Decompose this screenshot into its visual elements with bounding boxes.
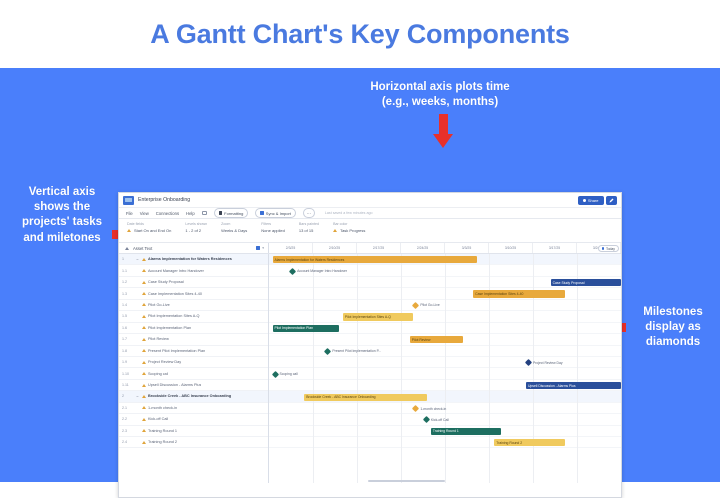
task-row-number: 1.5 xyxy=(122,314,133,318)
task-row-number: 1.4 xyxy=(122,303,133,307)
gantt-milestone-label: Present Pilot Implementation P... xyxy=(332,349,381,353)
settings-icon[interactable] xyxy=(256,246,260,250)
annotation-vertical-axis: Vertical axis shows the projects' tasks … xyxy=(6,185,118,246)
task-row-name: Training Round 2 xyxy=(148,440,177,444)
diamond-icon xyxy=(271,371,278,378)
triangle-icon xyxy=(142,258,146,261)
annotation-milestones-line2: display as xyxy=(630,320,716,335)
task-row[interactable]: 1.10Scoping call xyxy=(119,368,268,379)
gantt-milestone[interactable]: Project Review Day xyxy=(526,359,563,366)
filter-filters[interactable]: Filters None applied xyxy=(261,222,285,233)
filter-filters-label: Filters xyxy=(261,222,285,226)
today-dot-icon xyxy=(602,247,605,250)
triangle-icon xyxy=(142,338,146,341)
task-row-number: 2.4 xyxy=(122,440,133,444)
task-row[interactable]: 1.9Project Review Day xyxy=(119,357,268,368)
gantt-bar-label: Pilot Implementation Sites A-Q xyxy=(345,315,391,319)
annotation-milestones: Milestones display as diamonds xyxy=(630,305,716,351)
gantt-bar-label: Training Round 1 xyxy=(433,429,459,433)
triangle-icon xyxy=(333,229,337,232)
task-row[interactable]: 1.5Pilot Implementation Sites A-Q xyxy=(119,311,268,322)
gantt-milestone[interactable]: Pilot Go-Live xyxy=(413,302,439,309)
task-row-number: 1.11 xyxy=(122,383,133,387)
annotation-horizontal-axis: Horizontal axis plots time (e.g., weeks,… xyxy=(320,80,560,110)
expand-toggle-icon[interactable]: − xyxy=(135,257,140,262)
format-icon xyxy=(219,211,223,215)
menu-item-view[interactable]: View xyxy=(140,211,149,216)
sort-ascending-icon[interactable] xyxy=(125,247,129,250)
sync-import-button-label: Sync & Import xyxy=(266,211,291,216)
task-row-number: 1.7 xyxy=(122,337,133,341)
today-button[interactable]: Today xyxy=(598,245,619,252)
filter-bar-color[interactable]: Bar color Task Progress xyxy=(333,222,365,233)
formatting-button-label: Formatting xyxy=(224,211,243,216)
gantt-bar-label: Case Implementation Sites 4-40 xyxy=(475,292,523,296)
gantt-milestone[interactable]: 1-month check-in xyxy=(413,405,446,412)
annotation-vertical-axis-line4: and miletones xyxy=(6,231,118,246)
task-row[interactable]: 1.11Upsell Discussion - Alarms Plus xyxy=(119,380,268,391)
today-button-label: Today xyxy=(606,247,615,251)
gantt-bar[interactable]: Pilot Implementation Plan xyxy=(273,325,340,332)
gantt-bar-label: Upsell Discussion - Alarms Plus xyxy=(528,384,576,388)
task-row-name: 1-month check-in xyxy=(148,406,177,410)
task-row-name: Brookside Creek - ABC Insurance Onboardi… xyxy=(148,394,231,398)
title-band: A Gantt Chart's Key Components xyxy=(0,0,720,68)
annotation-vertical-axis-line1: Vertical axis xyxy=(6,185,118,200)
gantt-bar[interactable]: Pilot Review xyxy=(410,336,463,343)
triangle-icon xyxy=(142,429,146,432)
task-row[interactable]: 2−Brookside Creek - ABC Insurance Onboar… xyxy=(119,391,268,402)
gantt-bar-label: Training Round 2 xyxy=(496,441,522,445)
annotation-horizontal-axis-line2: (e.g., weeks, months) xyxy=(320,95,560,110)
gantt-bar[interactable]: Case Implementation Sites 4-40 xyxy=(473,290,565,297)
task-row-number: 1.1 xyxy=(122,269,133,273)
annotation-vertical-axis-line2: shows the xyxy=(6,200,118,215)
gantt-bar-label: Pilot Review xyxy=(412,338,431,342)
task-row[interactable]: 1−Alarms Implementation for Waters Resid… xyxy=(119,254,268,265)
task-row-number: 1.6 xyxy=(122,326,133,330)
timeline-tick: 2/17/25 xyxy=(357,243,401,253)
diamond-icon xyxy=(423,416,430,423)
timeline-tick: 3/3/25 xyxy=(445,243,489,253)
filter-bars-painted-value: 13 of 15 xyxy=(299,228,319,233)
filter-bar-color-label: Bar color xyxy=(333,222,365,226)
gantt-bar[interactable]: Training Round 1 xyxy=(431,428,501,435)
filter-bar: Date fields Start On and End On Levels s… xyxy=(119,219,621,243)
triangle-icon xyxy=(142,406,146,409)
annotation-milestones-line3: diamonds xyxy=(630,335,716,350)
task-row-name: Upsell Discussion - Alarms Plus xyxy=(148,383,201,387)
gantt-bar-label: Brookside Creek - ABC Insurance Onboardi… xyxy=(306,395,375,399)
gantt-milestone[interactable]: Account Manager Intro Handover xyxy=(290,268,347,275)
task-row[interactable]: 1.4Pilot Go-Live xyxy=(119,300,268,311)
task-row[interactable]: 1.6Pilot Implementation Plan xyxy=(119,323,268,334)
task-row-name: Account Manager Intro Handover xyxy=(148,269,204,273)
task-row[interactable]: 2.2Kick-off Call xyxy=(119,414,268,425)
task-row-number: 1 xyxy=(122,257,133,261)
triangle-icon xyxy=(142,315,146,318)
task-row[interactable]: 1.1Account Manager Intro Handover xyxy=(119,265,268,276)
gantt-milestone-label: Scoping call xyxy=(280,372,298,376)
task-row[interactable]: 1.2Case Study Proposal xyxy=(119,277,268,288)
saved-status: Last saved a few minutes ago xyxy=(325,211,373,215)
filter-date-fields-text: Start On and End On xyxy=(134,228,171,233)
triangle-icon xyxy=(142,303,146,306)
task-column-header-label: Asset Text xyxy=(133,246,152,251)
timeline-header: 2/3/252/10/252/17/252/24/253/3/253/10/25… xyxy=(269,243,621,253)
task-row-name: Project Review Day xyxy=(148,360,181,364)
task-row-number: 2 xyxy=(122,394,133,398)
filter-levels-shown-value: 1 - 2 of 2 xyxy=(185,228,207,233)
annotation-milestones-line1: Milestones xyxy=(630,305,716,320)
filter-bars-painted[interactable]: Bars painted 13 of 15 xyxy=(299,222,319,233)
arrow-down-icon xyxy=(433,114,453,148)
gantt-milestone-label: 1-month check-in xyxy=(420,407,446,411)
triangle-icon xyxy=(142,269,146,272)
task-row-number: 1.3 xyxy=(122,292,133,296)
task-row-number: 1.10 xyxy=(122,372,133,376)
task-column-header[interactable]: Asset Text ▾ xyxy=(119,243,269,253)
task-row-name: Pilot Implementation Plan xyxy=(148,326,191,330)
task-row[interactable]: 2.11-month check-in xyxy=(119,403,268,414)
pencil-icon xyxy=(609,198,614,203)
expand-toggle-icon[interactable]: − xyxy=(135,394,140,399)
document-title: Enterprise Onboarding xyxy=(138,197,190,203)
gantt-milestone-label: Pilot Go-Live xyxy=(420,303,439,307)
grid-body: 1−Alarms Implementation for Waters Resid… xyxy=(119,254,621,483)
gantt-bar-label: Pilot Implementation Plan xyxy=(275,326,313,330)
task-row[interactable]: 2.4Training Round 2 xyxy=(119,437,268,448)
task-row-number: 2.1 xyxy=(122,406,133,410)
filter-zoom-value: Weeks & Days xyxy=(221,228,247,233)
person-icon xyxy=(583,199,586,202)
task-row[interactable]: 1.7Pilot Review xyxy=(119,334,268,345)
filter-date-fields[interactable]: Date fields Start On and End On xyxy=(127,222,171,233)
task-row-name: Pilot Implementation Sites A-Q xyxy=(148,314,200,318)
menu-item-connections[interactable]: Connections xyxy=(156,211,179,216)
gantt-bar[interactable]: Training Round 2 xyxy=(494,439,564,446)
triangle-icon xyxy=(142,326,146,329)
gantt-app-window: Enterprise Onboarding Share File View Co… xyxy=(118,192,622,498)
filter-bar-color-text: Task Progress xyxy=(340,228,365,233)
triangle-icon xyxy=(142,372,146,375)
task-row-number: 1.8 xyxy=(122,349,133,353)
filter-levels-shown-label: Levels shown xyxy=(185,222,207,226)
gantt-bar[interactable]: Alarms Implementation for Waters Residen… xyxy=(273,256,477,263)
gantt-milestone[interactable]: Kick-off Call xyxy=(424,416,449,423)
triangle-icon xyxy=(142,361,146,364)
share-button-label: Share xyxy=(588,198,599,203)
timeline-tick: 3/10/25 xyxy=(489,243,533,253)
triangle-icon xyxy=(142,292,146,295)
app-titlebar: Enterprise Onboarding Share xyxy=(119,193,621,208)
task-row-number: 2.3 xyxy=(122,429,133,433)
filter-bar-color-value: Task Progress xyxy=(333,228,365,233)
gantt-bar[interactable]: Brookside Creek - ABC Insurance Onboardi… xyxy=(304,394,427,401)
titlebar-actions: Share xyxy=(578,196,617,205)
annotation-vertical-axis-line3: projects' tasks xyxy=(6,215,118,230)
sync-icon xyxy=(260,211,264,215)
comment-icon[interactable] xyxy=(202,211,207,215)
chevron-down-icon[interactable]: ▾ xyxy=(262,246,264,250)
task-list-column: 1−Alarms Implementation for Waters Resid… xyxy=(119,254,269,483)
gantt-bar-label: Alarms Implementation for Waters Residen… xyxy=(275,258,345,262)
timeline-column[interactable]: Alarms Implementation for Waters Residen… xyxy=(269,254,621,483)
task-row-name: Kick-off Call xyxy=(148,417,168,421)
timeline-bars: Alarms Implementation for Waters Residen… xyxy=(269,254,621,483)
filter-bars-painted-label: Bars painted xyxy=(299,222,319,226)
grid-header: Asset Text ▾ 2/3/252/10/252/17/252/24/25… xyxy=(119,243,621,254)
task-row-name: Scoping call xyxy=(148,372,168,376)
task-row[interactable]: 1.8Present Pilot Implementation Plan xyxy=(119,346,268,357)
task-row-name: Present Pilot Implementation Plan xyxy=(148,349,205,353)
diamond-icon xyxy=(525,359,532,366)
gantt-bar[interactable]: Case Study Proposal xyxy=(551,279,621,286)
gantt-milestone-label: Kick-off Call xyxy=(431,418,449,422)
edit-button[interactable] xyxy=(606,196,617,205)
filter-date-fields-label: Date fields xyxy=(127,222,171,226)
gantt-bar-label: Case Study Proposal xyxy=(553,281,585,285)
filter-zoom-label: Zoom xyxy=(221,222,247,226)
triangle-icon xyxy=(142,349,146,352)
triangle-icon xyxy=(142,418,146,421)
gantt-milestone[interactable]: Scoping call xyxy=(273,371,298,378)
more-options-button[interactable]: ⋯ xyxy=(303,208,315,218)
gantt-milestone[interactable]: Present Pilot Implementation P... xyxy=(325,348,381,355)
task-row-number: 2.2 xyxy=(122,417,133,421)
triangle-icon xyxy=(142,441,146,444)
diamond-icon xyxy=(324,348,331,355)
task-row-name: Alarms Implementation for Waters Residen… xyxy=(148,257,232,261)
gantt-milestone-label: Project Review Day xyxy=(533,361,563,365)
task-row-name: Pilot Go-Live xyxy=(148,303,170,307)
app-logo-icon xyxy=(123,196,134,205)
formatting-button[interactable]: Formatting xyxy=(214,208,249,218)
filter-levels-shown[interactable]: Levels shown 1 - 2 of 2 xyxy=(185,222,207,233)
timeline-tick: 2/24/25 xyxy=(401,243,445,253)
triangle-icon xyxy=(127,229,131,232)
task-row-name: Case Implementation Sites 4-40 xyxy=(148,292,202,296)
filter-filters-value: None applied xyxy=(261,228,285,233)
timeline-tick: 2/3/25 xyxy=(269,243,313,253)
filter-zoom[interactable]: Zoom Weeks & Days xyxy=(221,222,247,233)
gantt-bar[interactable]: Pilot Implementation Sites A-Q xyxy=(343,313,413,320)
menu-item-file[interactable]: File xyxy=(126,211,133,216)
task-row-name: Case Study Proposal xyxy=(148,280,184,284)
diamond-icon xyxy=(412,302,419,309)
task-row-number: 1.9 xyxy=(122,360,133,364)
annotation-horizontal-axis-line1: Horizontal axis plots time xyxy=(320,80,560,95)
task-row-name: Pilot Review xyxy=(148,337,169,341)
task-row-name: Training Round 1 xyxy=(148,429,177,433)
menu-item-help[interactable]: Help xyxy=(186,211,195,216)
filter-date-fields-value: Start On and End On xyxy=(127,228,171,233)
task-row[interactable]: 2.3Training Round 1 xyxy=(119,426,268,437)
app-menubar: File View Connections Help Formatting Sy… xyxy=(119,208,621,219)
triangle-icon xyxy=(142,281,146,284)
blue-canvas: Horizontal axis plots time (e.g., weeks,… xyxy=(0,68,720,482)
gantt-bar[interactable]: Upsell Discussion - Alarms Plus xyxy=(526,382,621,389)
diamond-icon xyxy=(412,405,419,412)
task-row-number: 1.2 xyxy=(122,280,133,284)
timeline-tick: 2/10/25 xyxy=(313,243,357,253)
diamond-icon xyxy=(289,268,296,275)
gantt-milestone-label: Account Manager Intro Handover xyxy=(297,269,347,273)
triangle-icon xyxy=(142,395,146,398)
triangle-icon xyxy=(142,384,146,387)
task-row[interactable]: 1.3Case Implementation Sites 4-40 xyxy=(119,288,268,299)
share-button[interactable]: Share xyxy=(578,196,604,205)
timeline-tick: 3/17/25 xyxy=(533,243,577,253)
sync-import-button[interactable]: Sync & Import xyxy=(255,208,296,218)
page-title: A Gantt Chart's Key Components xyxy=(150,19,569,50)
